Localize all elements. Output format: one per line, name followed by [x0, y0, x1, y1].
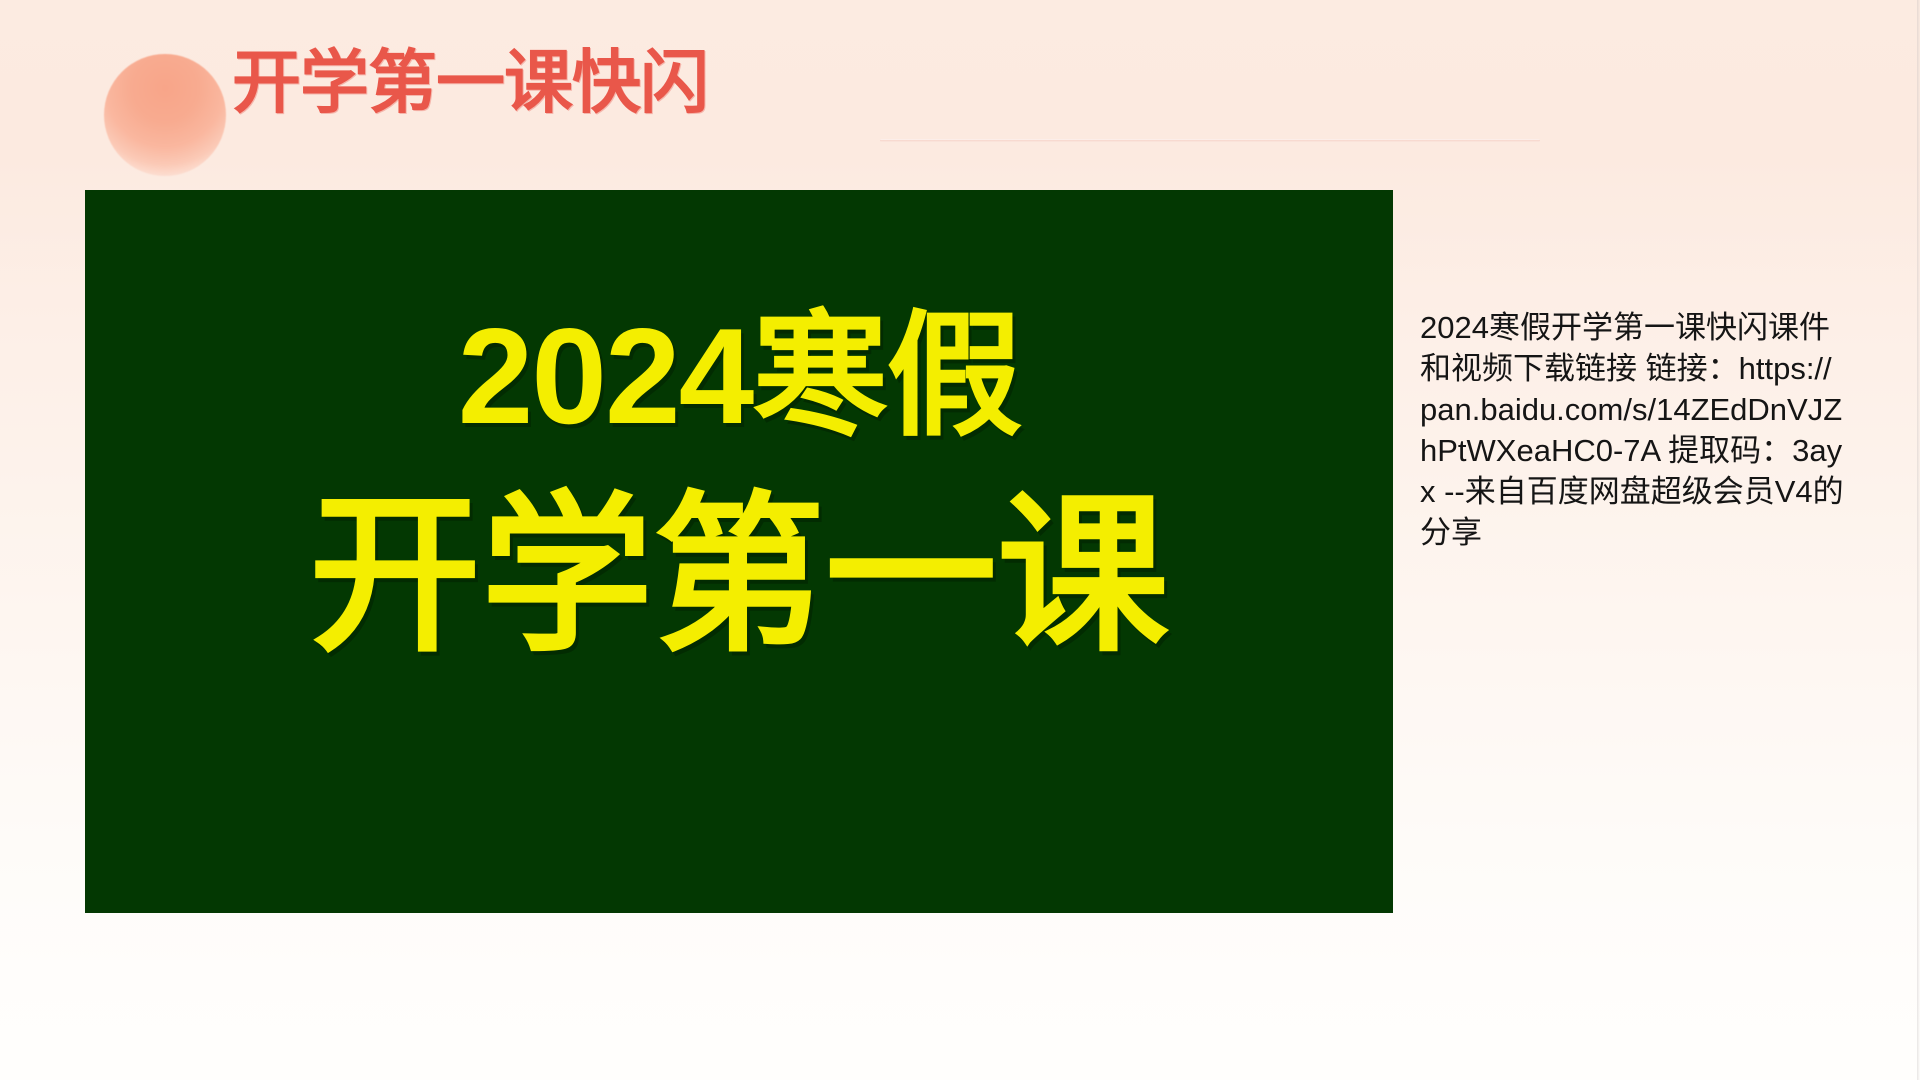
page-title: 开学第一课快闪 [232, 48, 708, 117]
title-divider [880, 139, 1540, 142]
video-title-line-2: 开学第一课 [85, 490, 1393, 662]
video-title-line-1: 2024寒假 [85, 308, 1393, 444]
sun-decoration-icon [104, 54, 226, 176]
presentation-slide: 开学第一课快闪 2024寒假 开学第一课 2024寒假开学第一课快闪课件和视频下… [0, 0, 1920, 1080]
download-link-caption: 2024寒假开学第一课快闪课件和视频下载链接 链接：https://pan.ba… [1420, 307, 1848, 553]
video-thumbnail[interactable]: 2024寒假 开学第一课 [85, 190, 1393, 913]
